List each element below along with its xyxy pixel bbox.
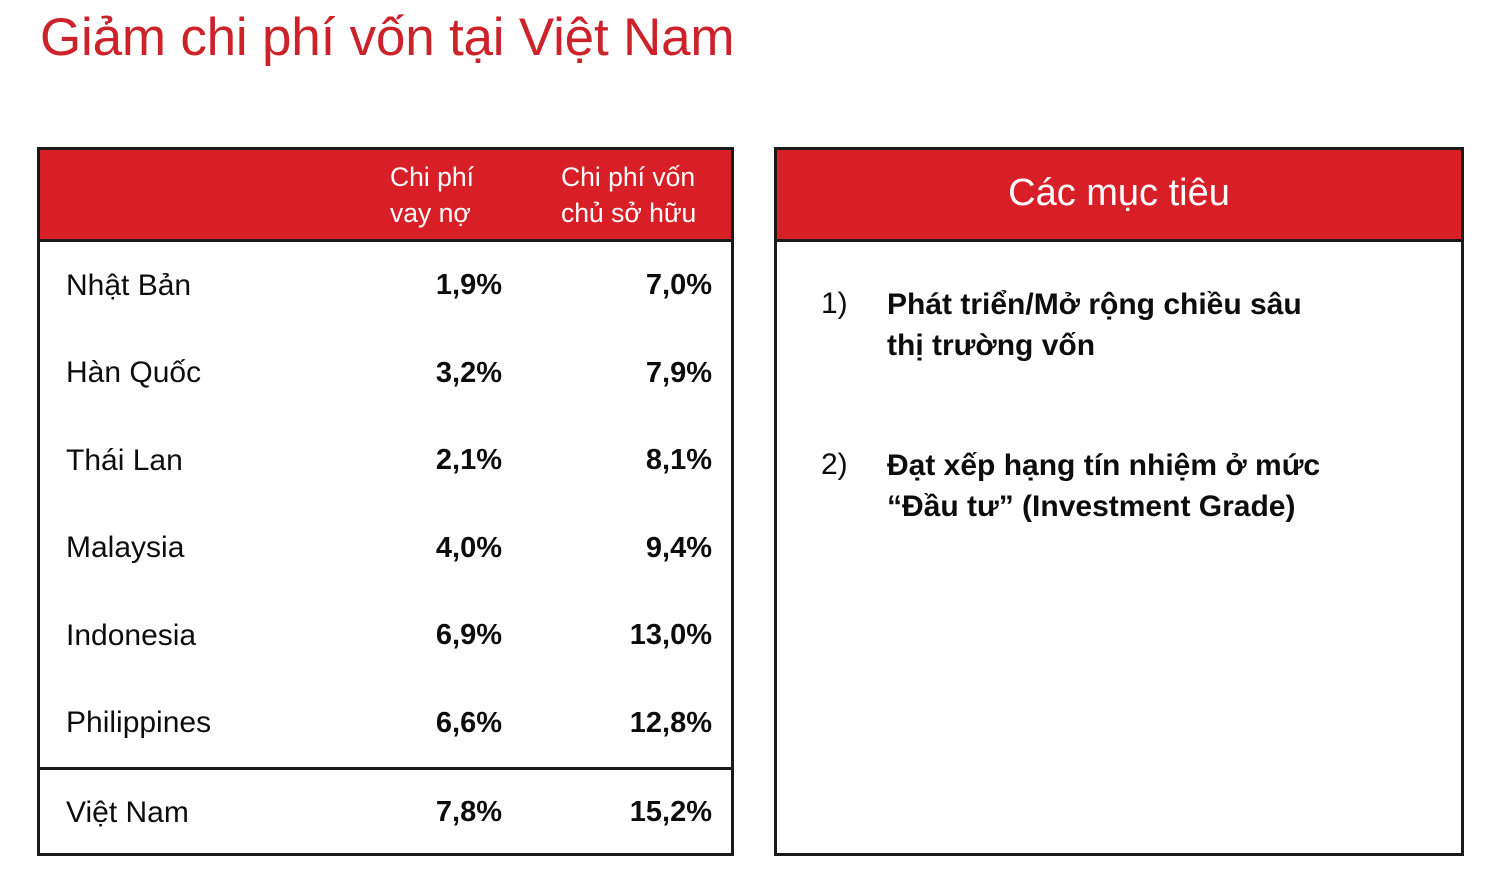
cell-country: Hàn Quốc <box>40 356 353 390</box>
table-row: Nhật Bản 1,9% 7,0% <box>40 242 731 330</box>
cell-cost-of-debt: 6,6% <box>353 707 526 740</box>
goals-card: Các mục tiêu 1) Phát triển/Mở rộng chiều… <box>774 147 1464 856</box>
cell-country: Việt Nam <box>40 796 353 830</box>
cell-cost-of-equity: 9,4% <box>526 532 731 565</box>
cell-cost-of-debt: 6,9% <box>353 619 526 652</box>
list-item-number: 2) <box>821 445 887 485</box>
cell-cost-of-debt: 3,2% <box>353 357 526 390</box>
list-item-text: Đạt xếp hạng tín nhiệm ở mức “Đầu tư” (I… <box>887 445 1439 528</box>
column-header-country <box>40 194 353 196</box>
table-body: Nhật Bản 1,9% 7,0% Hàn Quốc 3,2% 7,9% Th… <box>40 242 731 855</box>
table-row: Thái Lan 2,1% 8,1% <box>40 417 731 505</box>
cell-country: Nhật Bản <box>40 269 353 303</box>
column-header-cost-of-equity-line2: chủ sở hữu <box>561 196 731 231</box>
list-item-number: 1) <box>821 284 887 324</box>
column-header-cost-of-equity-line1: Chi phí vốn <box>561 160 731 195</box>
cell-cost-of-debt: 2,1% <box>353 444 526 477</box>
list-item-text: Phát triển/Mở rộng chiều sâu thị trường … <box>887 284 1439 367</box>
table-row: Malaysia 4,0% 9,4% <box>40 505 731 593</box>
goals-card-title: Các mục tiêu <box>1008 174 1230 215</box>
table-row-vietnam: Việt Nam 7,8% 15,2% <box>40 767 731 855</box>
cell-country: Thái Lan <box>40 444 353 478</box>
table-row: Philippines 6,6% 12,8% <box>40 680 731 768</box>
cell-cost-of-equity: 7,0% <box>526 269 731 302</box>
cell-cost-of-equity: 15,2% <box>526 796 731 829</box>
list-item: 1) Phát triển/Mở rộng chiều sâu thị trườ… <box>821 284 1439 367</box>
goals-list: 1) Phát triển/Mở rộng chiều sâu thị trườ… <box>777 242 1461 853</box>
cell-cost-of-equity: 7,9% <box>526 357 731 390</box>
cell-country: Philippines <box>40 706 353 740</box>
column-header-cost-of-debt-line2: vay nợ <box>390 196 526 231</box>
cell-cost-of-debt: 4,0% <box>353 532 526 565</box>
list-item: 2) Đạt xếp hạng tín nhiệm ở mức “Đầu tư”… <box>821 445 1439 528</box>
table-row: Indonesia 6,9% 13,0% <box>40 592 731 680</box>
column-header-cost-of-equity: Chi phí vốn chủ sở hữu <box>526 158 731 230</box>
cell-cost-of-debt: 1,9% <box>353 269 526 302</box>
goals-card-header: Các mục tiêu <box>777 150 1461 242</box>
page-title: Giảm chi phí vốn tại Việt Nam <box>40 8 734 69</box>
cost-of-capital-table: Chi phí vay nợ Chi phí vốn chủ sở hữu Nh… <box>37 147 734 856</box>
cell-cost-of-debt: 7,8% <box>353 796 526 829</box>
cell-cost-of-equity: 12,8% <box>526 707 731 740</box>
table-header-row: Chi phí vay nợ Chi phí vốn chủ sở hữu <box>40 150 731 242</box>
cell-cost-of-equity: 13,0% <box>526 619 731 652</box>
column-header-cost-of-debt-line1: Chi phí <box>390 160 526 195</box>
column-header-cost-of-debt: Chi phí vay nợ <box>353 158 526 230</box>
cell-country: Malaysia <box>40 531 353 565</box>
table-row: Hàn Quốc 3,2% 7,9% <box>40 330 731 418</box>
cell-country: Indonesia <box>40 619 353 653</box>
cell-cost-of-equity: 8,1% <box>526 444 731 477</box>
